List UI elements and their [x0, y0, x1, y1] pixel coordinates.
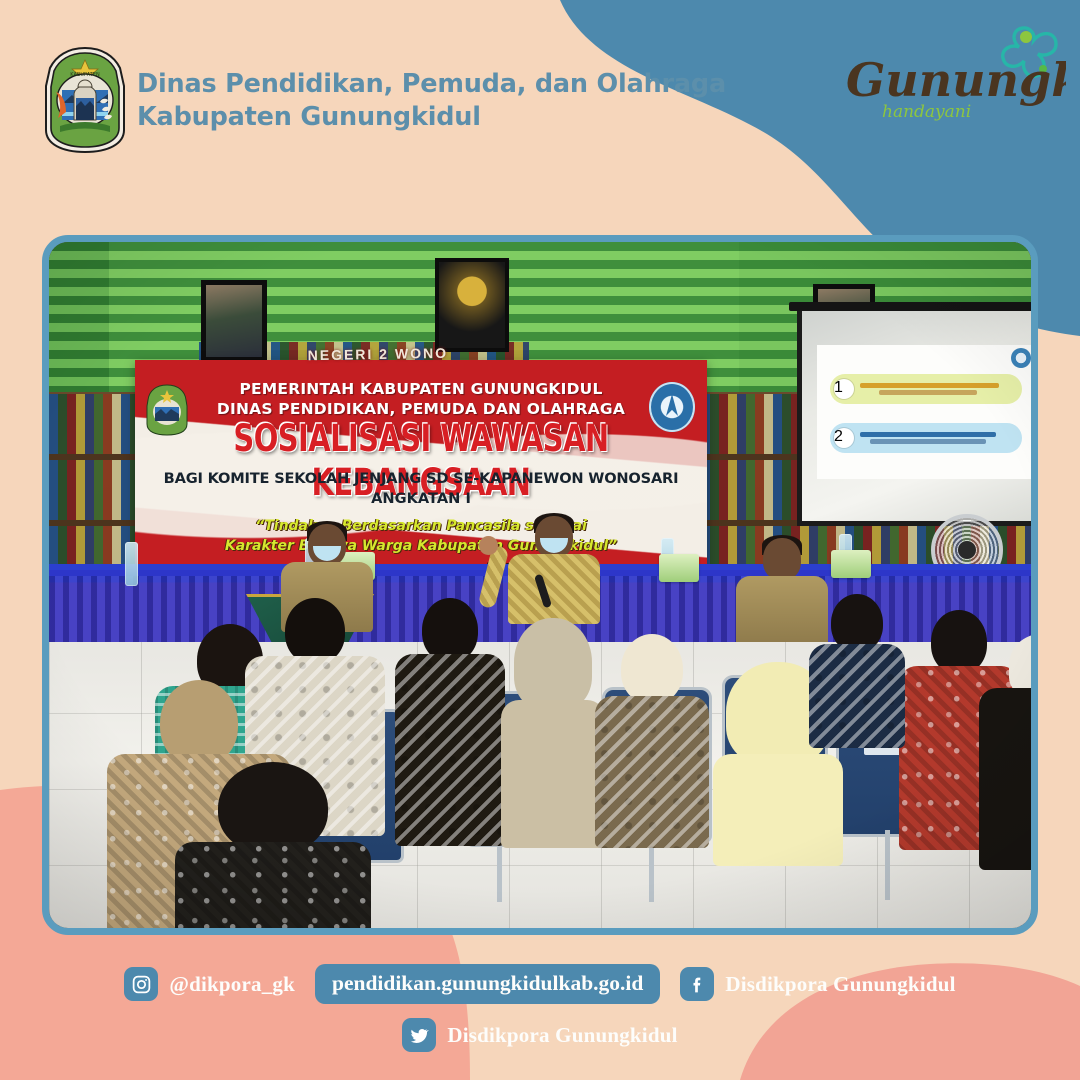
- poster-header: KABUPATEN Dinas Pendidikan, Pemuda, dan …: [0, 0, 760, 200]
- snack-box: [831, 550, 871, 578]
- audience-member: [175, 762, 371, 928]
- footer-row-primary: @dikpora_gk pendidikan.gunungkidulkab.go…: [0, 964, 1080, 1004]
- event-photo-card: 1 2 NEGERI 2 WONO: [42, 235, 1038, 935]
- banner-line1: PEMERINTAH KABUPATEN GUNUNGKIDUL: [135, 380, 707, 398]
- audience-member: [979, 634, 1031, 866]
- slide-logo-icon: [1011, 348, 1031, 368]
- header-title-block: Dinas Pendidikan, Pemuda, dan Olahraga K…: [137, 68, 697, 133]
- audience-member: [595, 634, 709, 846]
- projector-screen-roller: [789, 302, 1031, 311]
- svg-text:Gunungkidul: Gunungkidul: [846, 53, 1066, 107]
- banner-arc-text: NEGERI 2 WONO: [263, 344, 494, 382]
- facebook-page-name: Disdikpora Gunungkidul: [725, 972, 955, 997]
- banner-quote-line1: “Tindakan Berdasarkan Pancasila sebagai: [135, 518, 707, 534]
- gunungkidul-brand-logo: Gunungkidul handayani: [838, 22, 1066, 142]
- water-bottle: [125, 542, 138, 586]
- chair-leg: [885, 830, 890, 900]
- audience-member: [395, 598, 505, 844]
- banner-line5: ANGKATAN I: [135, 490, 707, 507]
- projected-slide: 1 2: [817, 345, 1031, 479]
- header-title-line2: Kabupaten Gunungkidul: [137, 101, 697, 134]
- svg-text:KABUPATEN: KABUPATEN: [70, 72, 100, 78]
- twitter-page-name: Disdikpora Gunungkidul: [447, 1023, 677, 1048]
- twitter-icon: [402, 1018, 436, 1052]
- instagram-icon: [124, 967, 158, 1001]
- banner-quote-line2: Karakter Budaya Warga Kabupaten Gunungki…: [135, 538, 707, 554]
- slide-text-lines: [860, 381, 1022, 397]
- snack-box: [659, 554, 699, 582]
- facebook-icon: [680, 967, 714, 1001]
- svg-text:handayani: handayani: [882, 102, 971, 122]
- event-banner: NEGERI 2 WONO PEMERINTAH KABUPATEN GUNUN…: [135, 360, 707, 576]
- footer-twitter[interactable]: Disdikpora Gunungkidul: [402, 1018, 677, 1052]
- slide-bullet-number: 2: [834, 428, 854, 448]
- projector-screen: 1 2: [797, 311, 1031, 526]
- president-portrait-frame: [201, 280, 267, 362]
- garuda-pancasila-emblem: [435, 258, 509, 352]
- website-pill[interactable]: pendidikan.gunungkidulkab.go.id: [315, 964, 660, 1004]
- slide-text-lines: [860, 430, 1022, 446]
- audience-member: [809, 594, 905, 744]
- slide-bullet-number: 1: [834, 379, 854, 399]
- banner-line4: BAGI KOMITE SEKOLAH JENJANG SD SE-KAPANE…: [135, 470, 707, 487]
- slide-bullet-row: 2: [830, 423, 1022, 453]
- instagram-handle: @dikpora_gk: [169, 972, 295, 997]
- slide-bullet-row: 1: [830, 374, 1022, 404]
- event-photograph: 1 2 NEGERI 2 WONO: [49, 242, 1031, 928]
- poster-footer: @dikpora_gk pendidikan.gunungkidulkab.go…: [0, 950, 1080, 1070]
- header-title-line1: Dinas Pendidikan, Pemuda, dan Olahraga: [137, 68, 697, 101]
- regency-coat-of-arms-icon: KABUPATEN: [42, 46, 128, 154]
- footer-instagram[interactable]: @dikpora_gk: [124, 967, 295, 1001]
- audience-member: [501, 618, 605, 844]
- footer-facebook[interactable]: Disdikpora Gunungkidul: [680, 967, 955, 1001]
- chair-leg: [497, 838, 502, 902]
- poster-canvas: KABUPATEN Dinas Pendidikan, Pemuda, dan …: [0, 0, 1080, 1080]
- footer-row-secondary: Disdikpora Gunungkidul: [0, 1018, 1080, 1052]
- website-url: pendidikan.gunungkidulkab.go.id: [332, 971, 643, 995]
